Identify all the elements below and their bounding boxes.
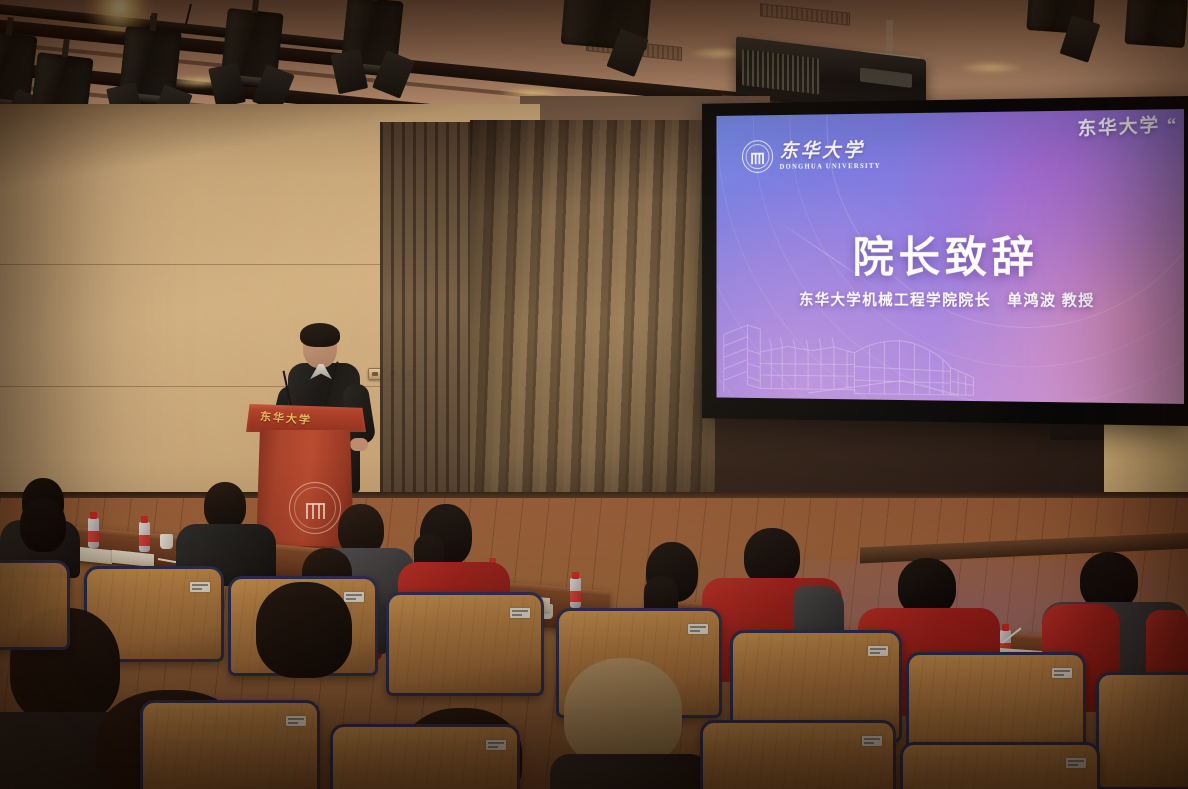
attendee-mid-left: [246, 582, 366, 702]
seat-number-label: [1066, 758, 1086, 768]
logo-chinese-name: 东华大学: [780, 141, 881, 161]
auditorium-seat[interactable]: [1096, 672, 1188, 789]
auditorium-seat[interactable]: [386, 592, 544, 696]
slide-corner-text: 东华大学 “: [1077, 109, 1179, 141]
projection-screen[interactable]: 东华大学 DONGHUA UNIVERSITY 东华大学 “ 院长致辞 东华大学…: [702, 96, 1188, 426]
auditorium-seat[interactable]: [700, 720, 896, 789]
auditorium-seat[interactable]: [0, 560, 70, 650]
recessed-light: [960, 62, 1022, 73]
slide-title: 院长致辞: [717, 221, 1184, 285]
donghua-university-logo: 东华大学 DONGHUA UNIVERSITY: [742, 139, 881, 173]
water-bottle[interactable]: [88, 518, 99, 548]
seat-number-label: [486, 740, 506, 750]
hvac-vent: [760, 3, 850, 25]
light-cable: [185, 4, 192, 26]
water-bottle[interactable]: [139, 522, 150, 552]
seat-number-label: [510, 608, 530, 618]
campus-building-sketch-icon: [717, 296, 997, 404]
logo-english-name: DONGHUA UNIVERSITY: [780, 163, 881, 171]
seat-number-label: [688, 624, 708, 634]
projector-mount: [886, 20, 893, 58]
attendee-front-blond: [560, 658, 700, 789]
water-bottle[interactable]: [570, 578, 581, 608]
auditorium-seat[interactable]: [330, 724, 520, 789]
auditorium-seat[interactable]: [900, 742, 1100, 789]
auditorium-photo: 东华大学 DONGHUA UNIVERSITY 东华大学 “ 院长致辞 东华大学…: [0, 0, 1188, 789]
seat-number-label: [862, 736, 882, 746]
seat-number-label: [190, 582, 210, 592]
presenter-hair: [300, 323, 340, 347]
seat-number-label: [1052, 668, 1072, 678]
seat-number-label: [868, 646, 888, 656]
seat-number-label: [286, 716, 306, 726]
paper-cup[interactable]: [160, 534, 173, 549]
donghua-seal-icon: [742, 140, 773, 173]
projector-grille: [742, 49, 820, 95]
slide-surface: 东华大学 DONGHUA UNIVERSITY 东华大学 “ 院长致辞 东华大学…: [717, 109, 1184, 404]
auditorium-seat[interactable]: [140, 700, 320, 789]
curtain-shading: [470, 120, 715, 535]
projector-lens: [860, 68, 912, 88]
